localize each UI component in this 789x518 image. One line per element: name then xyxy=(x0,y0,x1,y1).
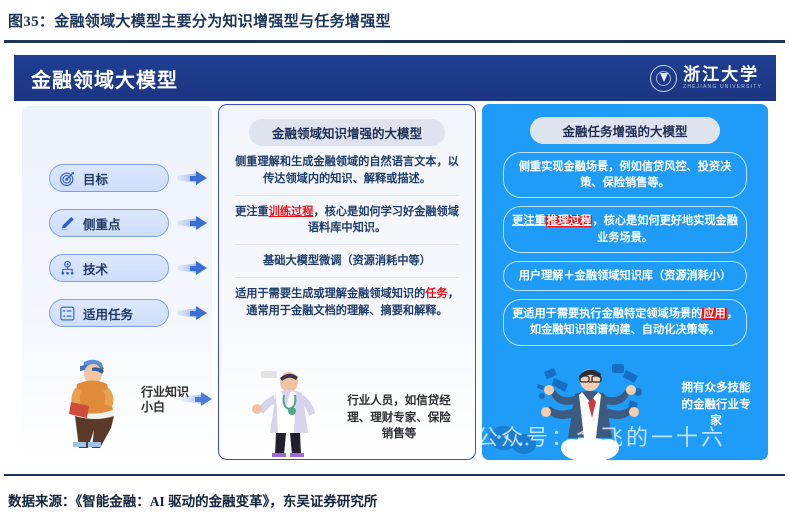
right-column: 金融任务增强的大模型 侧重实现金融场景，例如信贷风控、投资决策、保险销售等。 更… xyxy=(482,104,768,460)
arrow-icon-5 xyxy=(182,391,216,407)
logo-name-en: ZHEJIANG UNIVERSITY xyxy=(683,85,762,90)
arrow-icon-4 xyxy=(177,305,211,321)
middle-row-technology: 基础大模型微调（资源消耗中等） xyxy=(219,245,475,277)
left-item-label: 技术 xyxy=(83,259,108,278)
caption-divider-top xyxy=(4,40,785,43)
slide-title: 金融领域大模型 xyxy=(31,64,178,93)
middle-row-goal: 侧重理解和生成金融领域的自然语言文本，以传达领域内的知识、解释或描述。 xyxy=(219,146,475,195)
source-note: 数据来源：《智能金融：AI 驱动的金融变革》，东吴证券研究所 xyxy=(8,490,778,510)
slide-header: 金融领域大模型 浙江大学 ZHEJIANG UNIVERSITY xyxy=(14,55,776,101)
logo-name-cn: 浙江大学 xyxy=(683,66,762,83)
pen-icon xyxy=(59,215,76,232)
left-item-label: 侧重点 xyxy=(83,214,121,233)
figure-caption: 图35：金融领域大模型主要分为知识增强型与任务增强型 xyxy=(8,10,778,31)
target-icon xyxy=(59,170,76,187)
network-icon xyxy=(59,260,76,277)
slide-container: 金融领域大模型 浙江大学 ZHEJIANG UNIVERSITY xyxy=(14,55,776,467)
caption-divider-bottom xyxy=(4,474,785,476)
left-item-technology[interactable]: 技术 xyxy=(49,254,169,282)
right-row-focus: 更注重推理过程，核心是如何更好地实现金融业务场景。 xyxy=(503,206,747,252)
middle-figure: 行业人员，如信贷经理、理财专家、保险销售等 xyxy=(219,363,475,459)
right-column-heading: 金融任务增强的大模型 xyxy=(530,117,720,144)
left-item-tasks[interactable]: 适用任务 xyxy=(49,299,169,327)
left-item-label: 适用任务 xyxy=(83,304,133,323)
middle-column: 金融领域知识增强的大模型 侧重理解和生成金融领域的自然语言文本，以传达领域内的知… xyxy=(218,104,476,460)
middle-row-tasks: 适用于需要生成或理解金融领域知识的任务，通常用于金融文档的理解、摘要和解释。 xyxy=(219,278,475,327)
checklist-icon xyxy=(59,305,76,322)
arrow-icon-1 xyxy=(177,170,211,186)
zhejiang-university-logo: 浙江大学 ZHEJIANG UNIVERSITY xyxy=(650,65,762,92)
middle-figure-caption: 行业人员，如信贷经理、理财专家、保险销售等 xyxy=(347,393,451,443)
left-item-target[interactable]: 目标 xyxy=(49,164,169,192)
arrow-icon-3 xyxy=(177,260,211,276)
arrow-icon-2 xyxy=(177,215,211,231)
right-row-goal: 侧重实现金融场景，例如信贷风控、投资决策、保险销售等。 xyxy=(503,152,747,198)
left-column: 目标 侧重点 xyxy=(22,106,212,458)
left-item-focus[interactable]: 侧重点 xyxy=(49,209,169,237)
slide-body: 目标 侧重点 xyxy=(14,101,776,467)
left-item-label: 目标 xyxy=(83,169,108,188)
watermark-text: 公众号：会飞的一十六 xyxy=(482,420,768,452)
middle-row-focus: 更注重训练过程，核心是如何学习好金融领域语料库中知识。 xyxy=(219,196,475,245)
university-emblem-icon xyxy=(650,65,677,92)
right-row-technology: 用户理解＋金融领域知识库（资源消耗小） xyxy=(503,261,747,291)
logo-text: 浙江大学 ZHEJIANG UNIVERSITY xyxy=(683,66,762,90)
person-with-book-illustration xyxy=(44,352,140,448)
right-row-tasks: 更适用于需要执行金融特定领域场景的应用，如金融知识图谱构建、自动化决策等。 xyxy=(503,299,747,345)
doctor-illustration xyxy=(243,365,329,457)
middle-column-heading: 金融领域知识增强的大模型 xyxy=(249,119,445,146)
